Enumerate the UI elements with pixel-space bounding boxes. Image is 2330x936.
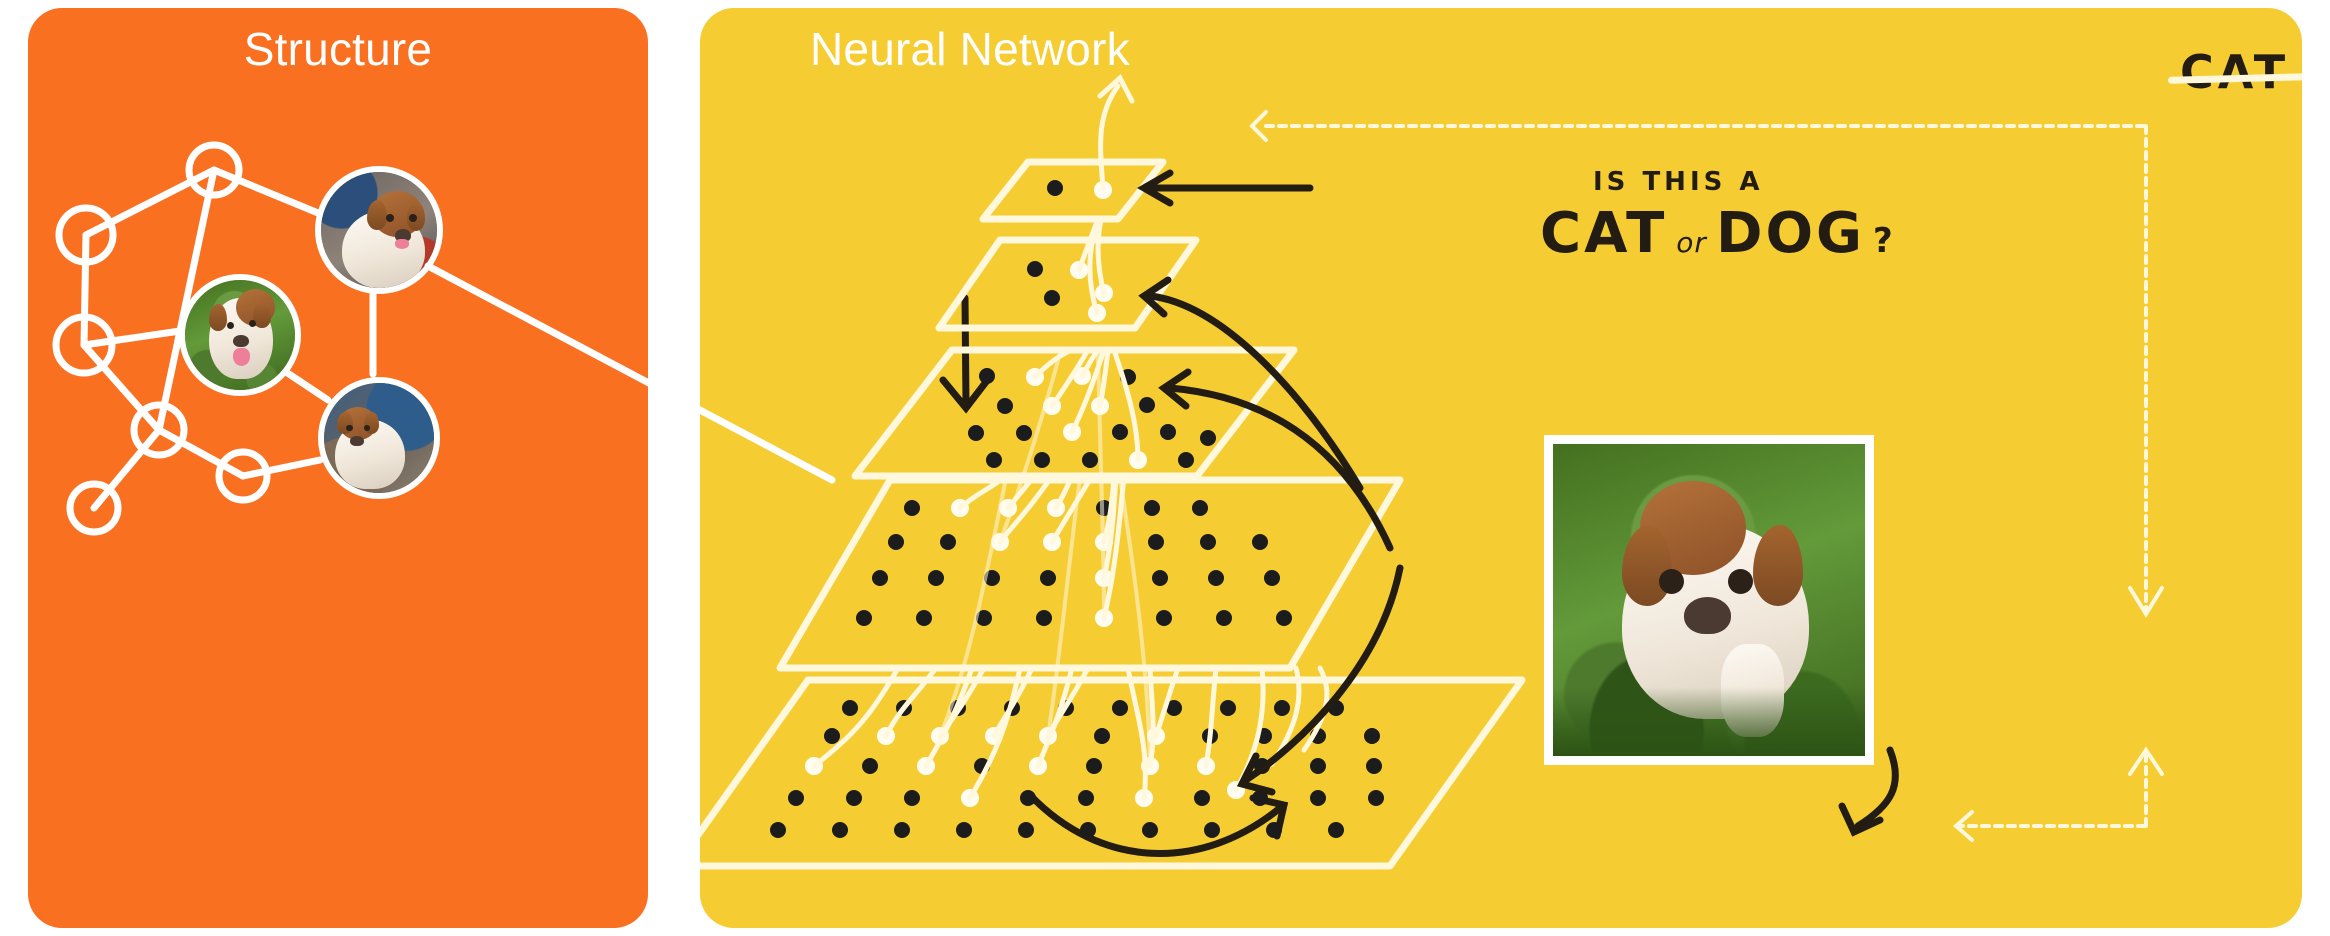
infographic-root: Structure bbox=[0, 0, 2330, 936]
panel-connector-line bbox=[0, 0, 2330, 936]
